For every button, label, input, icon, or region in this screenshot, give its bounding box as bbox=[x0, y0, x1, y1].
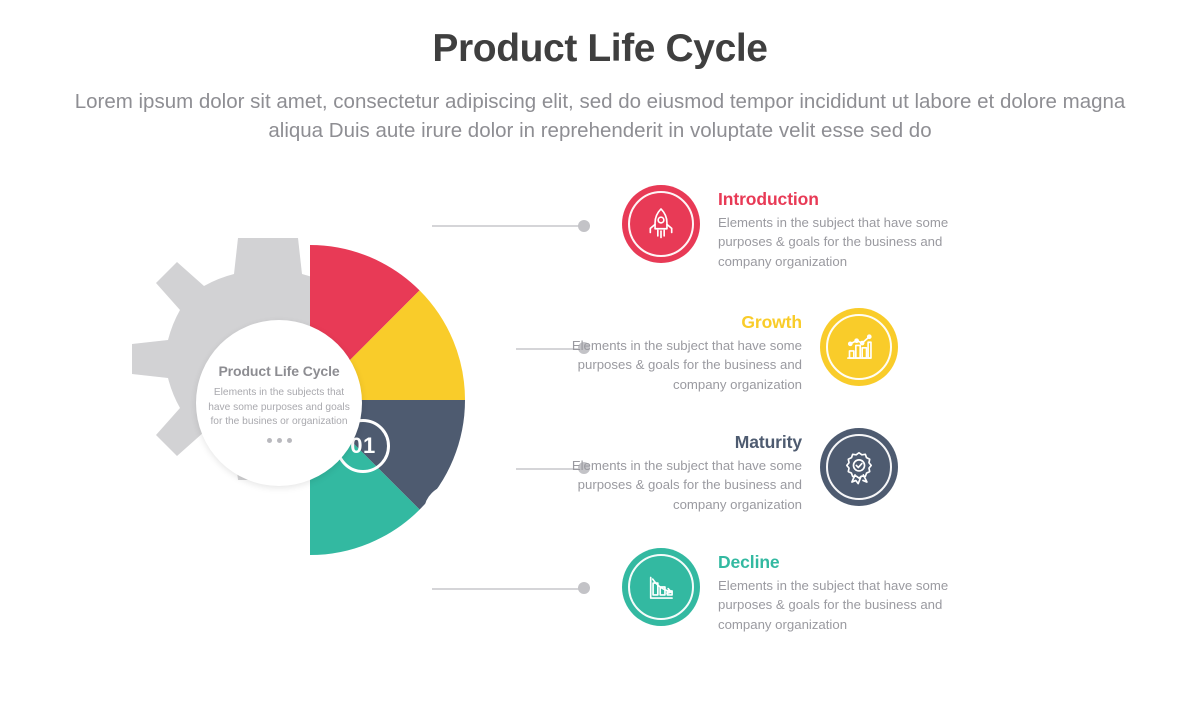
dot-1 bbox=[267, 438, 272, 443]
center-dots bbox=[267, 438, 292, 443]
page-subtitle: Lorem ipsum dolor sit amet, consectetur … bbox=[55, 87, 1145, 145]
center-description: Elements in the subjects that have some … bbox=[204, 386, 354, 429]
dot-2 bbox=[277, 438, 282, 443]
infographic-diagram: 01 02 03 04 Product Life Cycle Elements … bbox=[0, 160, 1200, 675]
item-text-maturity: Maturity Elements in the subject that ha… bbox=[540, 428, 802, 514]
item-description-decline: Elements in the subject that have some p… bbox=[718, 576, 980, 634]
center-circle: Product Life Cycle Elements in the subje… bbox=[196, 320, 362, 486]
bar-chart-growth-icon bbox=[820, 308, 898, 386]
connector-dot-4 bbox=[578, 582, 590, 594]
number-badge-02: 02 bbox=[424, 485, 478, 539]
item-text-decline: Decline Elements in the subject that hav… bbox=[718, 548, 980, 634]
award-badge-icon bbox=[820, 428, 898, 506]
connector-dot-1 bbox=[578, 220, 590, 232]
item-description-growth: Elements in the subject that have some p… bbox=[540, 336, 802, 394]
item-title-introduction: Introduction bbox=[718, 189, 980, 210]
connector-line-4 bbox=[432, 588, 582, 590]
header: Product Life Cycle Lorem ipsum dolor sit… bbox=[0, 26, 1200, 145]
bar-chart-decline-icon bbox=[622, 548, 700, 626]
item-introduction[interactable]: Introduction Elements in the subject tha… bbox=[622, 185, 980, 271]
item-description-introduction: Elements in the subject that have some p… bbox=[718, 213, 980, 271]
center-title: Product Life Cycle bbox=[218, 363, 339, 379]
item-maturity[interactable]: Maturity Elements in the subject that ha… bbox=[540, 428, 898, 514]
item-title-decline: Decline bbox=[718, 552, 980, 573]
item-decline[interactable]: Decline Elements in the subject that hav… bbox=[622, 548, 980, 634]
number-badge-03: 03 bbox=[424, 592, 478, 646]
item-growth[interactable]: Growth Elements in the subject that have… bbox=[540, 308, 898, 394]
connector-line-1 bbox=[432, 225, 582, 227]
item-text-introduction: Introduction Elements in the subject tha… bbox=[718, 185, 980, 271]
item-text-growth: Growth Elements in the subject that have… bbox=[540, 308, 802, 394]
item-description-maturity: Elements in the subject that have some p… bbox=[540, 456, 802, 514]
dot-3 bbox=[287, 438, 292, 443]
item-title-growth: Growth bbox=[540, 312, 802, 333]
item-title-maturity: Maturity bbox=[540, 432, 802, 453]
rocket-icon bbox=[622, 185, 700, 263]
page-title: Product Life Cycle bbox=[0, 26, 1200, 73]
number-badge-04: 04 bbox=[336, 660, 390, 714]
